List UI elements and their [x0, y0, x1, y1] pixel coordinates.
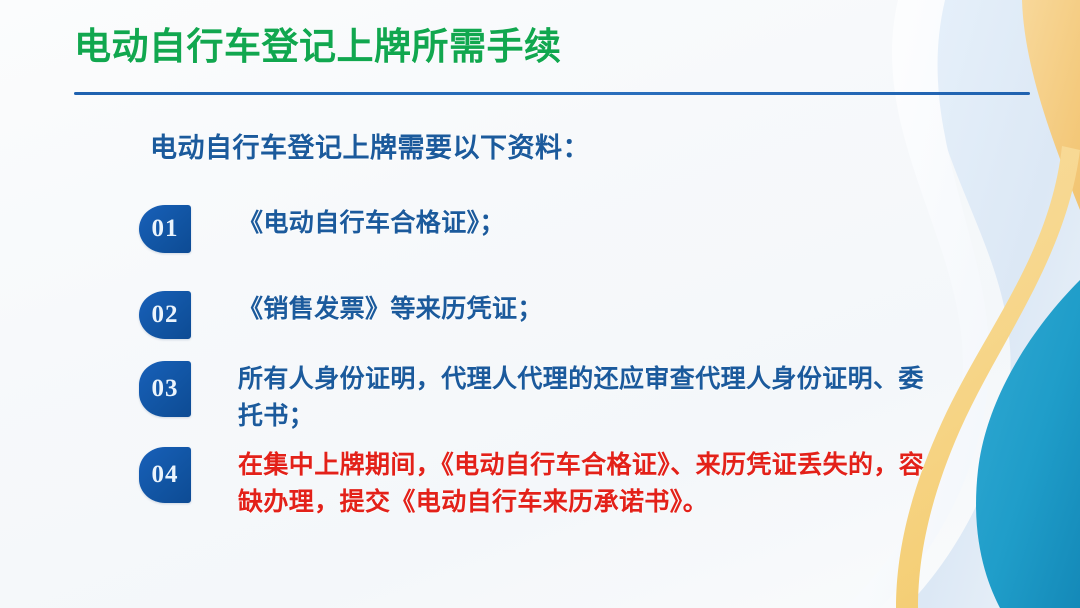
list-item: 03 所有人身份证明，代理人代理的还应审查代理人身份证明、委托书；: [139, 361, 929, 435]
list-item: 02 《销售发票》等来历凭证；: [139, 291, 929, 339]
list-item: 04 在集中上牌期间，《电动自行车合格证》、来历凭证丢失的，容缺办理，提交《电动…: [139, 447, 929, 521]
teal-accent-shape: [976, 280, 1080, 608]
item-number-badge: 02: [139, 291, 191, 339]
item-number-badge: 04: [139, 447, 191, 503]
list-item-text: 《销售发票》等来历凭证；: [238, 291, 929, 328]
requirements-list: 01 《电动自行车合格证》； 02 《销售发票》等来历凭证； 03 所有人身份证…: [139, 205, 929, 521]
title-divider-rule: [74, 92, 1030, 95]
item-number-badge: 03: [139, 361, 191, 417]
list-item-text: 所有人身份证明，代理人代理的还应审查代理人身份证明、委托书；: [238, 361, 929, 435]
page-title: 电动自行车登记上牌所需手续: [74, 26, 1034, 67]
list-item-text: 在集中上牌期间，《电动自行车合格证》、来历凭证丢失的，容缺办理，提交《电动自行车…: [238, 447, 929, 521]
title-block: 电动自行车登记上牌所需手续: [74, 26, 1034, 67]
list-item: 01 《电动自行车合格证》；: [139, 205, 929, 253]
list-item-text: 《电动自行车合格证》；: [238, 205, 929, 242]
item-number-badge: 01: [139, 205, 191, 253]
slide-canvas: 电动自行车登记上牌所需手续 电动自行车登记上牌需要以下资料： 01 《电动自行车…: [0, 0, 1080, 608]
subtitle-text: 电动自行车登记上牌需要以下资料：: [150, 132, 590, 164]
